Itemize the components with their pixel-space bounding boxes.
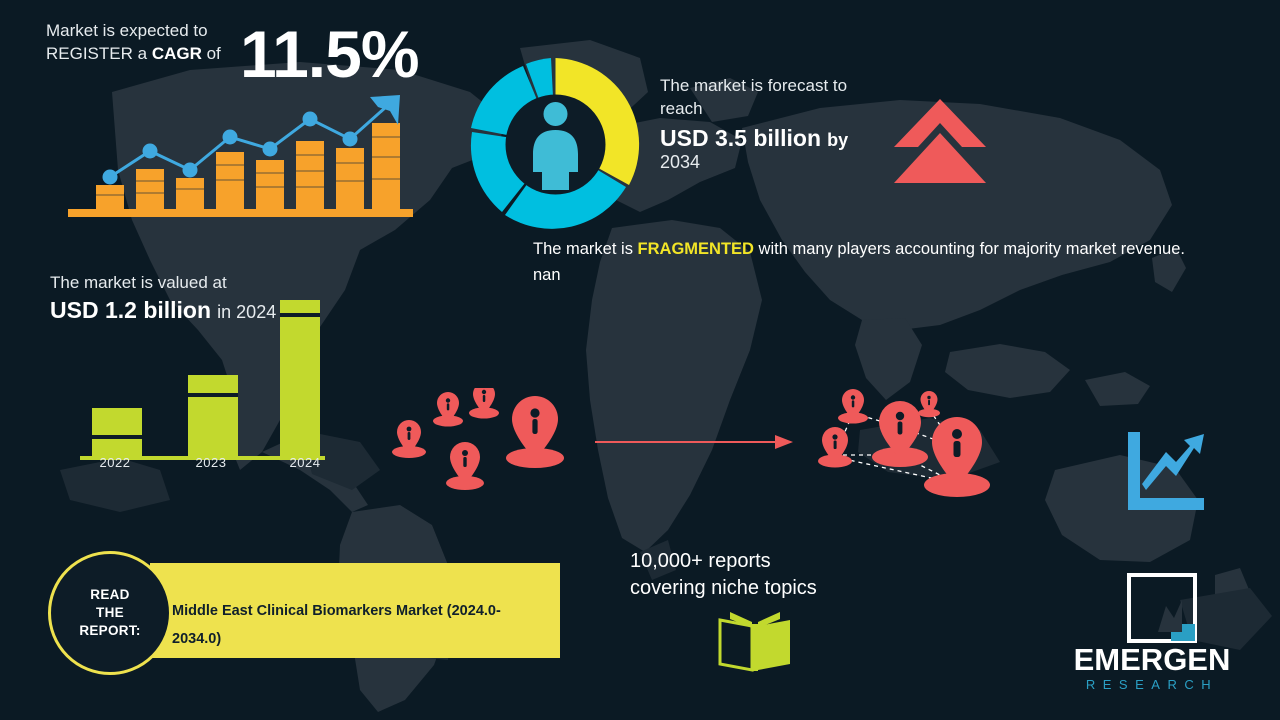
transition-arrow: [595, 430, 795, 454]
x-label-2024: 2024: [275, 455, 335, 470]
growth-trend-chart: [68, 85, 413, 225]
up-arrows-icon: [890, 95, 990, 183]
bar-2023: [188, 375, 238, 456]
x-label-2022: 2022: [85, 455, 145, 470]
valuation-bars: [92, 300, 320, 456]
arrow-head-icon: [775, 435, 793, 449]
forecast-caption: The market is forecast to reach: [660, 75, 890, 121]
bar-2024: [280, 300, 320, 456]
logo-mark-icon: [1126, 572, 1198, 644]
fragmented-pre: The market is: [533, 240, 638, 258]
scattered-pins-cluster: [385, 388, 585, 493]
forecast-value-row: USD 3.5 billion by: [660, 124, 920, 154]
forecast-year: 2034: [660, 152, 700, 173]
connected-pins-network: [805, 385, 1010, 505]
market-share-donut: [463, 52, 648, 237]
report-title: Middle East Clinical Biomarkers Market (…: [172, 598, 532, 653]
read-report-badge[interactable]: READTHEREPORT:: [48, 551, 172, 675]
cagr-caption-line1: Market is expected to: [46, 21, 208, 40]
growth-arrow-head: [370, 95, 400, 125]
growth-baseline: [68, 209, 413, 217]
logo-subtitle: RESEARCH: [1052, 677, 1252, 692]
reports-stat: 10,000+ reports covering niche topics: [630, 548, 910, 602]
fragmented-highlight: FRAGMENTED: [638, 240, 754, 258]
reports-stat-line2: covering niche topics: [630, 577, 817, 599]
forecast-value: USD 3.5 billion: [660, 125, 821, 151]
cagr-caption-line2-post: of: [202, 44, 221, 63]
bar-2022: [92, 408, 142, 456]
reports-stat-line1: 10,000+ reports: [630, 550, 771, 572]
forecast-by-label: by: [827, 130, 848, 150]
line-chart-icon: [1120, 428, 1208, 516]
valuation-caption: The market is valued at: [50, 273, 227, 293]
cagr-value: 11.5%: [240, 16, 419, 92]
fragmentation-statement: The market is FRAGMENTED with many playe…: [533, 237, 1213, 288]
read-report-label: READTHEREPORT:: [79, 586, 140, 641]
cagr-caption-line2-pre: REGISTER a: [46, 44, 152, 63]
open-book-icon: [718, 610, 796, 672]
emergen-research-logo: EMERGEN RESEARCH: [1052, 572, 1252, 702]
infographic-canvas: Market is expected to REGISTER a CAGR of…: [0, 0, 1280, 720]
cagr-caption-bold: CAGR: [152, 44, 202, 63]
logo-wordmark: EMERGEN: [1052, 642, 1252, 678]
market-valuation-chart: [70, 295, 340, 475]
x-label-2023: 2023: [181, 455, 241, 470]
